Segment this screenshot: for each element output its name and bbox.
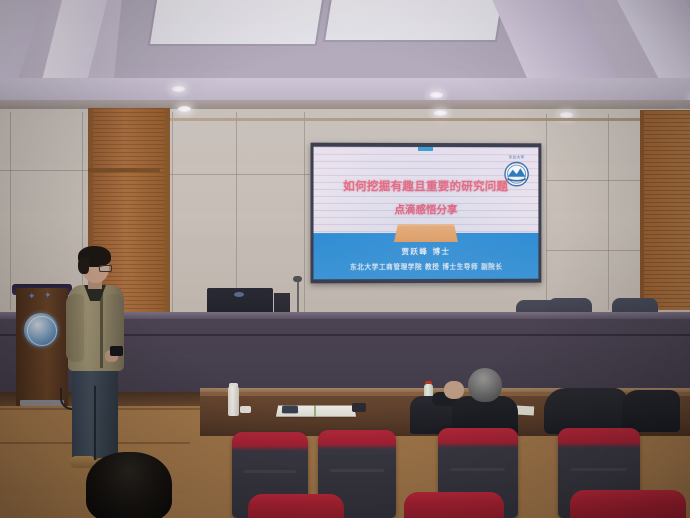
white-thermos-flask[interactable] bbox=[228, 386, 239, 416]
university-emblem-ring bbox=[27, 316, 57, 346]
lectern-star-icon-2: ✦ bbox=[44, 291, 52, 299]
wall-seam-7 bbox=[608, 114, 609, 310]
presenter-hair-side bbox=[78, 257, 89, 274]
slide-title: 如何挖掘有趣且重要的研究问题 bbox=[326, 179, 526, 194]
downlight-5 bbox=[434, 110, 447, 116]
wall-seam-6 bbox=[546, 114, 547, 310]
slide-logo-caption: 东北大学 bbox=[500, 155, 534, 160]
ceiling-light-panel-1 bbox=[148, 0, 332, 46]
projection-screen[interactable]: 东北大学 如何挖掘有趣且重要的研究问题 点滴感悟分享 贾跃峰 博士 东北大学工商… bbox=[311, 143, 542, 284]
draped-jacket-2 bbox=[622, 390, 680, 432]
monitor-logo-icon bbox=[234, 292, 244, 297]
downlight-2 bbox=[430, 92, 443, 98]
wall-hline-3 bbox=[546, 180, 644, 181]
wall-seam-1 bbox=[10, 112, 11, 310]
foreground-attendee-long-hair bbox=[86, 452, 172, 518]
wood-column-divider bbox=[88, 168, 160, 172]
slide-podium-graphic bbox=[394, 224, 458, 242]
notebook-spine bbox=[314, 406, 316, 417]
wall-seam-5 bbox=[304, 112, 305, 312]
seated-attendee-1-head bbox=[468, 368, 502, 402]
lecture-hall-photo: 东北大学 如何挖掘有趣且重要的研究问题 点滴感悟分享 贾跃峰 博士 东北大学工商… bbox=[0, 0, 690, 518]
presentation-remote[interactable] bbox=[352, 403, 366, 412]
wall-seam-4 bbox=[236, 112, 237, 312]
slide-subtitle: 点滴感悟分享 bbox=[326, 202, 526, 217]
presenter-leg-seam bbox=[94, 386, 96, 460]
presenter-jacket-placket bbox=[100, 292, 103, 368]
downlight-1 bbox=[172, 86, 185, 92]
slide-surface: 东北大学 如何挖掘有趣且重要的研究问题 点滴感悟分享 贾跃峰 博士 东北大学工商… bbox=[314, 147, 539, 280]
presenter-shoe-left bbox=[70, 456, 94, 468]
smartphone[interactable] bbox=[282, 406, 298, 414]
slide-speaker-name: 贾跃峰 博士 bbox=[326, 246, 526, 257]
wooden-slat-column-right bbox=[640, 110, 690, 310]
wall-hline-1 bbox=[0, 170, 90, 171]
presenter-arm-left bbox=[66, 294, 84, 362]
slide-accent-tab bbox=[418, 147, 433, 151]
wall-seam-3 bbox=[172, 112, 173, 312]
auditorium-seat-front[interactable] bbox=[404, 492, 504, 518]
ceiling bbox=[0, 0, 690, 108]
microphone-head-icon bbox=[293, 276, 302, 282]
wall-hline-4 bbox=[546, 250, 644, 251]
slide-speaker-affiliation: 东北大学工商管理学院 教授 博士生导师 副院长 bbox=[320, 261, 533, 271]
thermos-lid[interactable] bbox=[240, 406, 251, 413]
ceiling-light-panel-2 bbox=[323, 0, 511, 42]
auditorium-seat-front[interactable] bbox=[248, 494, 344, 518]
loose-paper-2[interactable] bbox=[516, 406, 534, 416]
lectern-star-icon-1: ✦ bbox=[28, 292, 36, 300]
standing-presenter bbox=[58, 246, 132, 478]
presenter-glasses-icon bbox=[99, 265, 112, 272]
wall-hline-2 bbox=[160, 174, 310, 175]
presentation-clicker[interactable] bbox=[110, 346, 123, 356]
wall-rail bbox=[170, 118, 640, 121]
downlight-4 bbox=[178, 106, 191, 112]
auditorium-seat-front[interactable] bbox=[570, 490, 686, 518]
